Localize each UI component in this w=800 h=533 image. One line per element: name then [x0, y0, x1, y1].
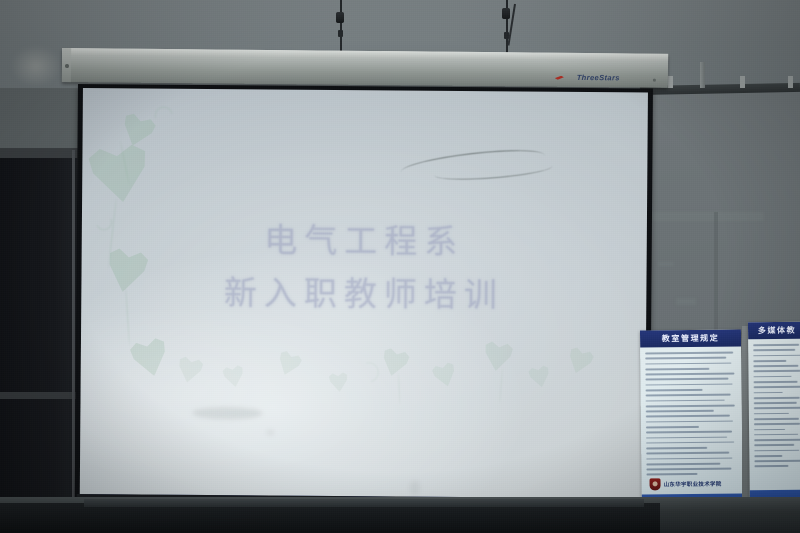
leaf-watermark: [527, 364, 553, 390]
leaf-watermark: [563, 345, 596, 378]
projection-screen-casing[interactable]: ThreeStars: [62, 48, 668, 88]
leaf-watermark: [116, 110, 158, 151]
rail-hook: [668, 76, 673, 88]
desk-edge: [84, 499, 644, 507]
wall-patch: [658, 262, 674, 266]
leaf-watermark: [127, 335, 173, 381]
leaf-watermark: [273, 348, 304, 379]
poster-multimedia-teaching[interactable]: 多媒体教: [748, 322, 800, 525]
suspension-cable-left: [340, 0, 342, 52]
floor-shadow: [0, 503, 660, 533]
leaf-watermark: [174, 354, 205, 385]
school-crest-icon: [650, 478, 661, 490]
leaf-stem: [499, 367, 503, 403]
poster-body-text: [753, 344, 800, 491]
cable-clamp-left: [336, 12, 344, 23]
wall-patch: [652, 212, 764, 221]
poster-heading: 多媒体教: [758, 325, 797, 336]
cable-clamp-small-left: [338, 30, 343, 37]
poster-header: 多媒体教: [748, 322, 800, 340]
screen-smudge: [266, 429, 274, 435]
ceiling-stain: [10, 45, 62, 87]
cable-clamp-right: [502, 8, 510, 19]
projection-screen[interactable]: 电气工程系 新入职教师培训: [75, 84, 653, 507]
wall-pipe: [700, 62, 705, 88]
classroom-photo: ThreeStars: [0, 0, 800, 533]
leaf-stem: [398, 373, 400, 405]
poster-header: 教室管理规定: [640, 329, 741, 347]
screen-smudge: [192, 407, 262, 420]
threestars-logo-icon: [555, 76, 564, 80]
casing-screw: [65, 64, 69, 68]
leaf-watermark: [378, 345, 412, 379]
school-logo: 山东华宇职业技术学院: [650, 478, 722, 491]
blackboard-top-rail: [0, 148, 82, 158]
slide-title-line2: 新入职教师培训: [81, 265, 646, 323]
leaf-watermark: [328, 371, 350, 393]
slide-title-line1: 电气工程系: [264, 220, 464, 261]
rail-hook: [740, 76, 745, 88]
blackboard-frame: [0, 150, 82, 533]
tendril-curl: [151, 103, 176, 128]
school-name: 山东华宇职业技术学院: [664, 480, 722, 489]
poster-body-text: [645, 352, 738, 495]
poster-heading: 教室管理规定: [662, 333, 720, 345]
leaf-watermark: [481, 339, 515, 373]
leaf-watermark: [85, 141, 154, 207]
casing-end-dot: [653, 79, 656, 82]
leaf-watermark: [430, 360, 460, 390]
blackboard-divider: [0, 392, 80, 399]
slide-title: 电气工程系 新入职教师培训: [81, 212, 647, 323]
screen-brand-label: ThreeStars: [577, 73, 620, 82]
tendril-curl: [355, 359, 382, 386]
screen-smudge: [410, 481, 420, 495]
rail-hook: [788, 76, 793, 88]
wall-patch: [676, 298, 696, 305]
projected-slide[interactable]: 电气工程系 新入职教师培训: [80, 88, 648, 499]
leaf-watermark: [221, 364, 246, 389]
